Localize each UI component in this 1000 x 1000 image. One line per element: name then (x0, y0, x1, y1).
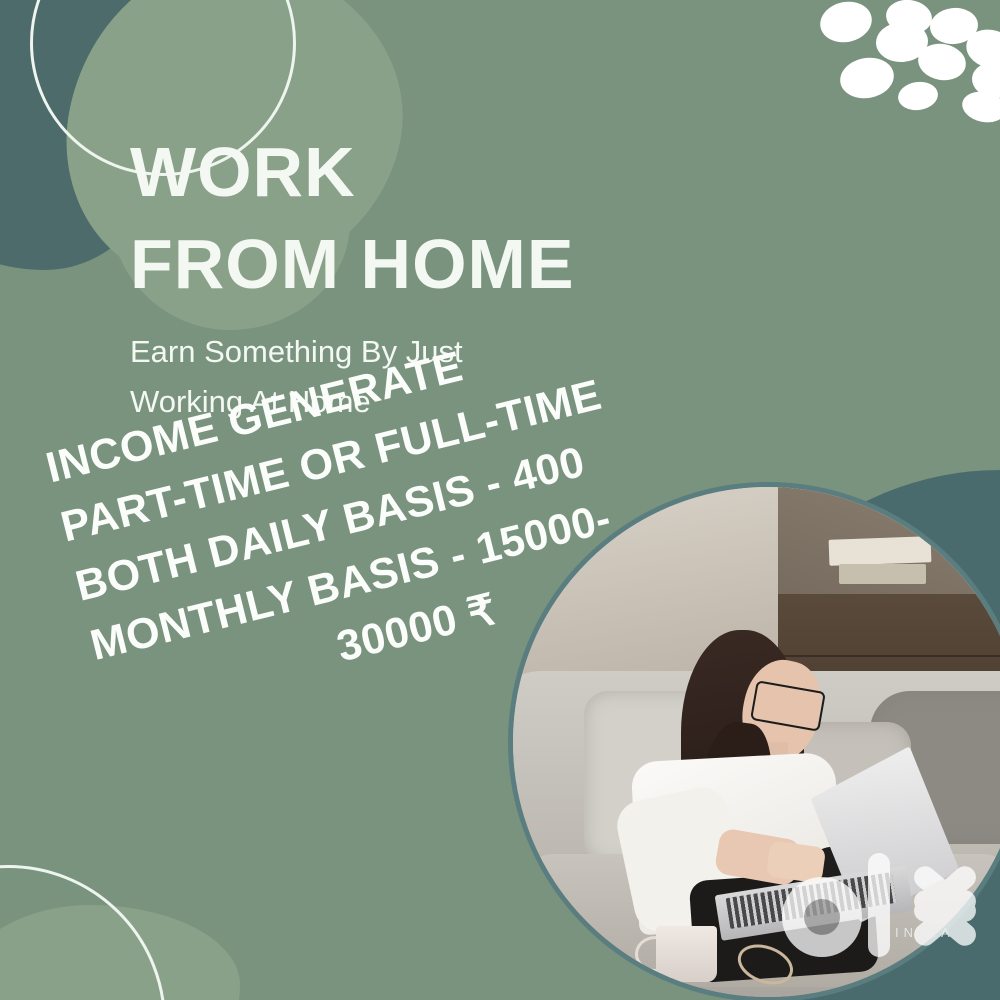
olx-watermark-region: INDIA (895, 925, 955, 940)
photo-cabinet-seam (778, 655, 1000, 657)
decor-dot (837, 54, 897, 103)
photo-mug (656, 926, 717, 982)
decor-dot (896, 79, 940, 112)
olx-logo-icon (780, 845, 990, 965)
photo-books-lower (839, 564, 926, 584)
olx-watermark (780, 845, 990, 965)
poster-canvas: WORK FROM HOME Earn Something By Just Wo… (0, 0, 1000, 1000)
photo-books (829, 536, 932, 565)
headline: WORK FROM HOME (130, 126, 575, 311)
decor-dot (816, 0, 875, 47)
